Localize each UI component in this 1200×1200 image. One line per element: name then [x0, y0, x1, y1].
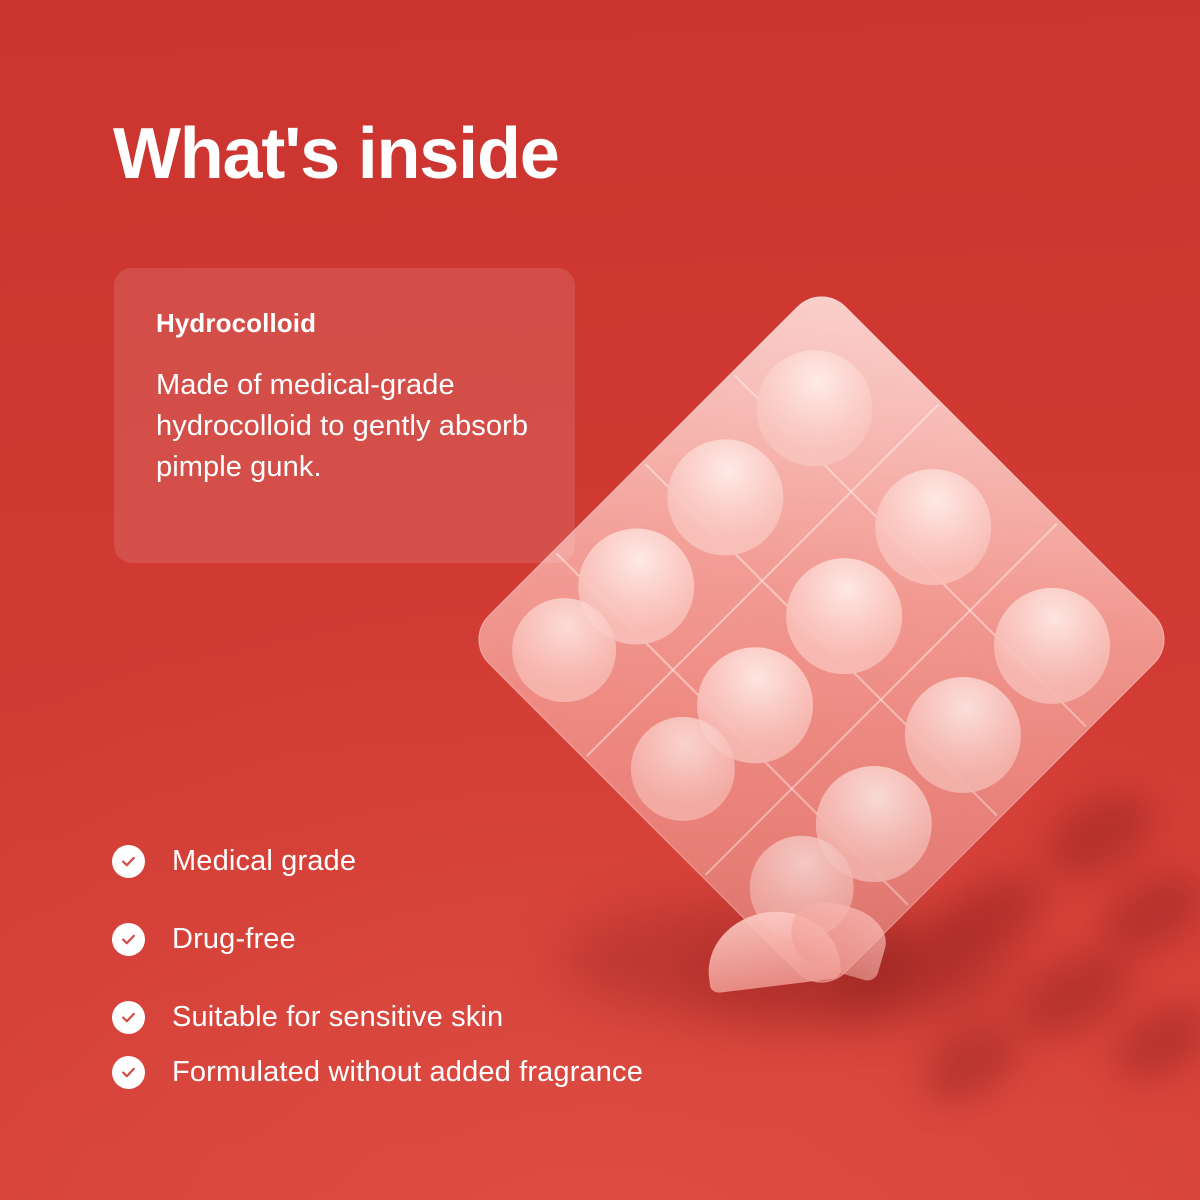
check-circle-icon [112, 1056, 145, 1089]
hydrocolloid-patch [851, 445, 1015, 609]
patch-cast-shadow [1030, 775, 1167, 895]
patch-cast-shadow [920, 854, 1062, 977]
card-title: Hydrocolloid [156, 308, 537, 339]
hydrocolloid-patch [762, 534, 926, 698]
patch-cast-shadow [1002, 932, 1145, 1056]
product-feature-panel: What's inside Hydrocolloid Made of medic… [0, 0, 1200, 1200]
hydrocolloid-patch [491, 577, 638, 724]
benefit-label: Formulated without added fragrance [172, 1056, 643, 1089]
benefit-item: Suitable for sensitive skin [112, 978, 812, 1056]
hydrocolloid-info-card: Hydrocolloid Made of medical-grade hydro… [114, 268, 575, 563]
benefit-item: Formulated without added fragrance [112, 1056, 812, 1089]
benefit-label: Drug-free [172, 923, 296, 956]
benefit-item: Drug-free [112, 900, 812, 978]
patch-cast-shadow [910, 1010, 1033, 1117]
hydrocolloid-patch [970, 564, 1134, 728]
patch-cast-shadow [1102, 990, 1200, 1094]
benefit-label: Suitable for sensitive skin [172, 1001, 503, 1034]
score-line [645, 463, 997, 815]
score-line [734, 374, 1086, 726]
benefits-list: Medical grade Drug-free Suitable for sen… [112, 822, 812, 1089]
hydrocolloid-patch [792, 742, 956, 906]
hydrocolloid-patch [732, 326, 896, 490]
check-circle-icon [112, 923, 145, 956]
check-circle-icon [112, 845, 145, 878]
card-body-text: Made of medical-grade hydrocolloid to ge… [156, 365, 537, 489]
benefit-label: Medical grade [172, 845, 356, 878]
page-title: What's inside [113, 116, 559, 194]
patch-cast-shadow [1089, 857, 1200, 969]
check-circle-icon [112, 1001, 145, 1034]
hydrocolloid-patch [609, 695, 756, 842]
hydrocolloid-patch [554, 504, 718, 668]
patch-cast-shadow [819, 927, 934, 1025]
hydrocolloid-patch [881, 653, 1045, 817]
score-line [586, 404, 938, 756]
hydrocolloid-patch [643, 415, 807, 579]
hydrocolloid-patch [673, 623, 837, 787]
benefit-item: Medical grade [112, 822, 812, 900]
